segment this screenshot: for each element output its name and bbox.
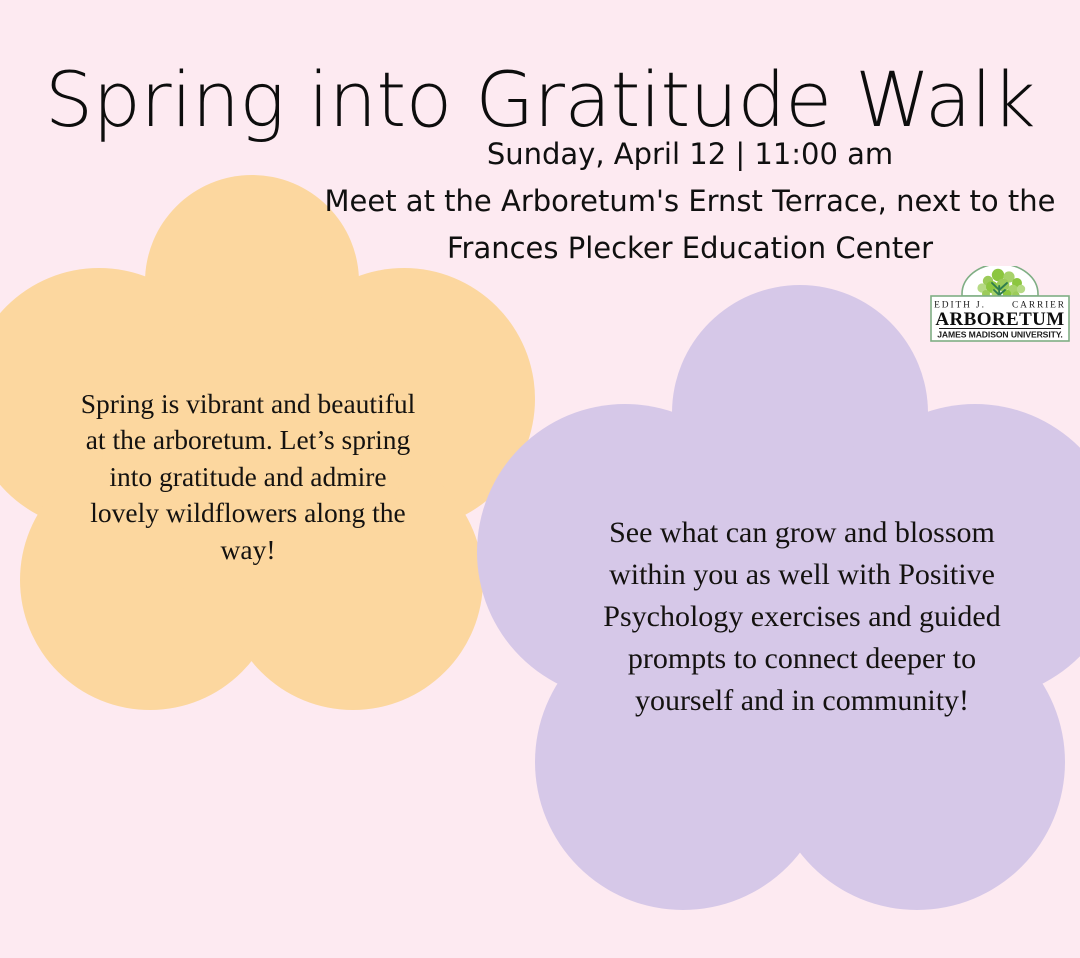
orange-flower-text: Spring is vibrant and beautiful at the a… <box>78 386 418 569</box>
event-details: Sunday, April 12 | 11:00 am Meet at the … <box>300 131 1080 272</box>
poster-canvas: Spring into Gratitude Walk Sunday, April… <box>0 0 1080 958</box>
arboretum-logo: EDITH J. CARRIER ARBORETUM JAMES MADISON… <box>928 266 1072 344</box>
meeting-point-line-2: Frances Plecker Education Center <box>300 225 1080 272</box>
meeting-point-line-1: Meet at the Arboretum's Ernst Terrace, n… <box>300 178 1080 225</box>
page-title: Spring into Gratitude Walk <box>0 61 1080 139</box>
logo-line2: ARBORETUM <box>935 309 1064 330</box>
event-datetime-line: Sunday, April 12 | 11:00 am <box>300 131 1080 178</box>
logo-line3: JAMES MADISON UNIVERSITY. <box>937 330 1062 340</box>
arboretum-logo-svg: EDITH J. CARRIER ARBORETUM JAMES MADISON… <box>928 266 1072 344</box>
purple-flower-text: See what can grow and blossom within you… <box>592 512 1012 722</box>
